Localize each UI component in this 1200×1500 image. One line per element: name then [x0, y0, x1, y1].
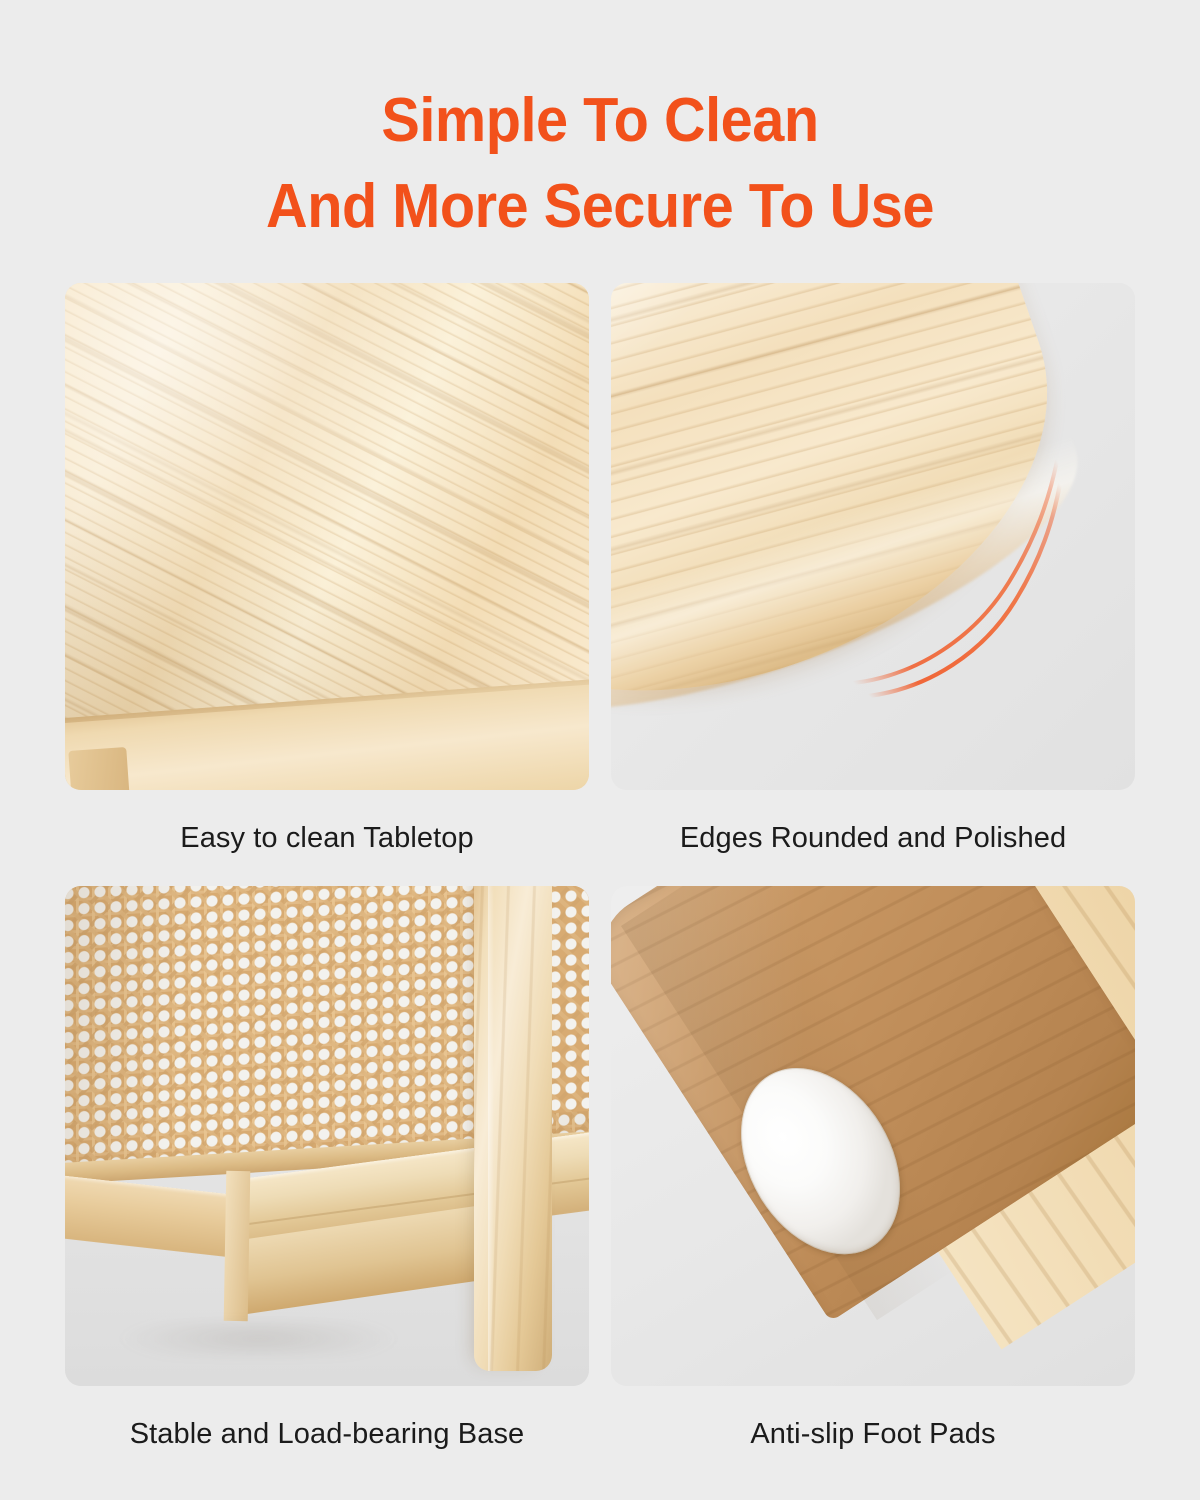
corner-joint-block [224, 1171, 250, 1321]
leg-wood-grain [474, 886, 553, 1371]
caption-stable-and-load-bearing-base: Stable and Load-bearing Base [65, 1386, 589, 1482]
table-leg-peek [69, 747, 130, 790]
feature-grid: Easy to clean Tabletop Edges Rounded and… [65, 283, 1135, 1393]
caption-edges-rounded-and-polished: Edges Rounded and Polished [611, 790, 1135, 886]
feature-cell-edges [611, 283, 1135, 790]
rattan-cane-sliver [547, 886, 589, 1113]
floor-shadow [96, 1321, 421, 1356]
infographic-page: Simple To Clean And More Secure To Use [0, 0, 1200, 1500]
feature-cell-base [65, 886, 589, 1386]
feature-cell-foot-pads [611, 886, 1135, 1386]
load-bearing-base-photo [65, 886, 589, 1386]
caption-anti-slip-foot-pads: Anti-slip Foot Pads [611, 1386, 1135, 1482]
rounded-edge-photo [611, 283, 1135, 790]
rounded-edge-arc-icon [611, 283, 1135, 790]
tabletop-photo [65, 283, 589, 790]
page-title: Simple To Clean And More Secure To Use [42, 78, 1158, 250]
feature-cell-tabletop [65, 283, 589, 790]
headline-line-1: Simple To Clean [42, 78, 1158, 164]
headline-line-2: And More Secure To Use [42, 164, 1158, 250]
anti-slip-foot-pad-photo [611, 886, 1135, 1386]
caption-easy-to-clean-tabletop: Easy to clean Tabletop [65, 790, 589, 886]
